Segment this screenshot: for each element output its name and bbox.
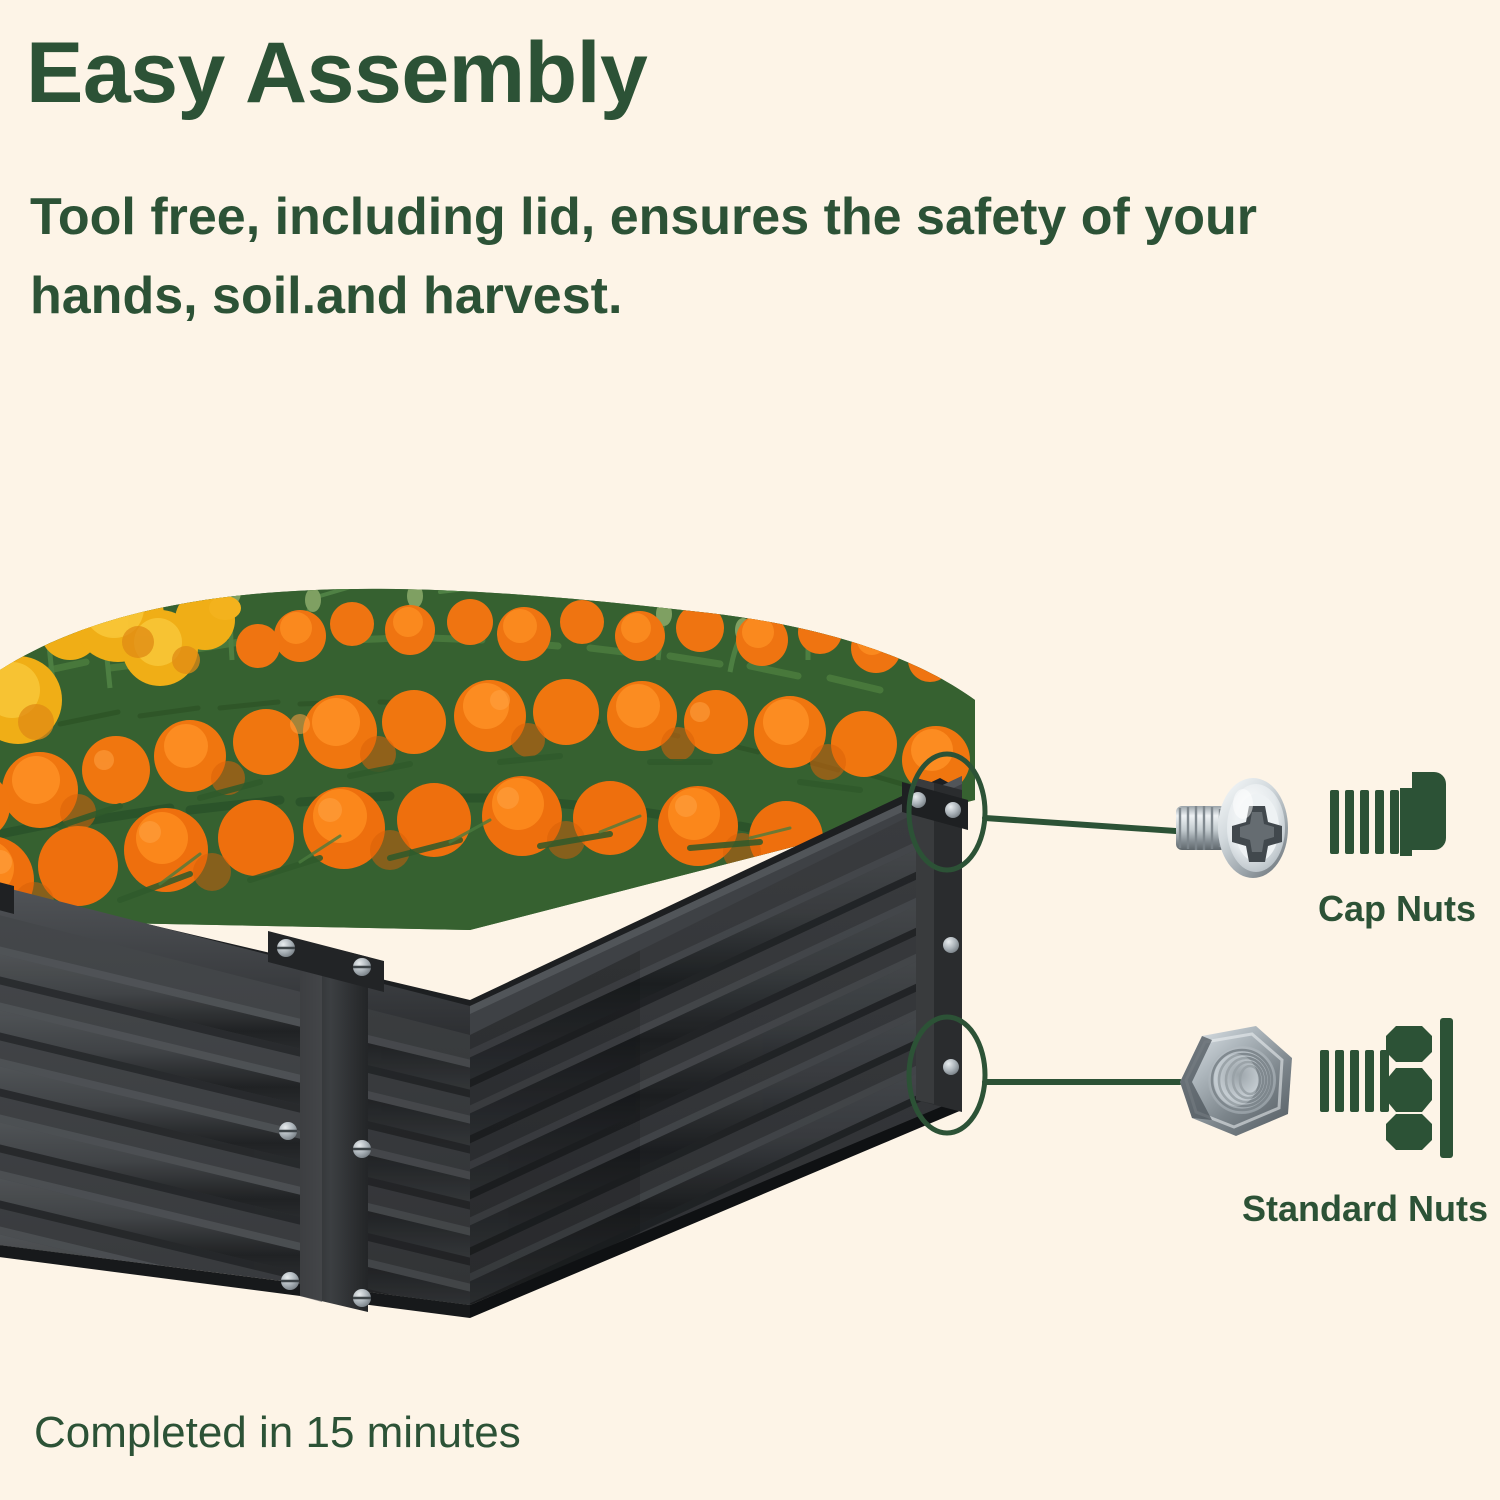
cap-nuts-label: Cap Nuts (1318, 888, 1476, 930)
page-subtitle: Tool free, including lid, ensures the sa… (30, 178, 1360, 336)
hex-nut-photo (1180, 1026, 1292, 1136)
page-title: Easy Assembly (26, 28, 647, 118)
flower-mound (0, 560, 1000, 960)
orange-marigolds (0, 599, 985, 924)
yellow-marigolds (0, 570, 241, 744)
rim-front (0, 876, 470, 1040)
cap-nut-bolt-photo (1176, 778, 1288, 878)
callout-standard-nuts (909, 1017, 1453, 1158)
rim-side (470, 776, 962, 1040)
post-screws (277, 939, 371, 1307)
right-post-screws (910, 792, 961, 1075)
standard-nut-highlight-ellipse (909, 1017, 985, 1133)
completion-time-note: Completed in 15 minutes (34, 1408, 521, 1458)
corner-bracket-left (0, 872, 14, 914)
cap-nut-leader-line (985, 818, 1190, 832)
corner-post-right (902, 778, 968, 1112)
corner-post-front (268, 931, 384, 1312)
side-corrugation (460, 812, 980, 1364)
cap-nut-icon (1330, 772, 1446, 856)
front-bottom-edge (0, 1240, 470, 1318)
planter-box (0, 768, 980, 1372)
cap-nut-highlight-ellipse (909, 754, 985, 870)
front-wall (0, 890, 480, 1372)
side-bottom-edge (470, 1098, 962, 1318)
infographic-canvas: Easy Assembly Tool free, including lid, … (0, 0, 1500, 1500)
standard-nut-icon (1320, 1018, 1453, 1158)
standard-nuts-label: Standard Nuts (1242, 1188, 1488, 1230)
soil-line (0, 778, 962, 1035)
callout-cap-nuts: . (0, 0, 1446, 878)
side-wall (460, 768, 980, 1364)
front-corrugation (0, 932, 480, 1372)
